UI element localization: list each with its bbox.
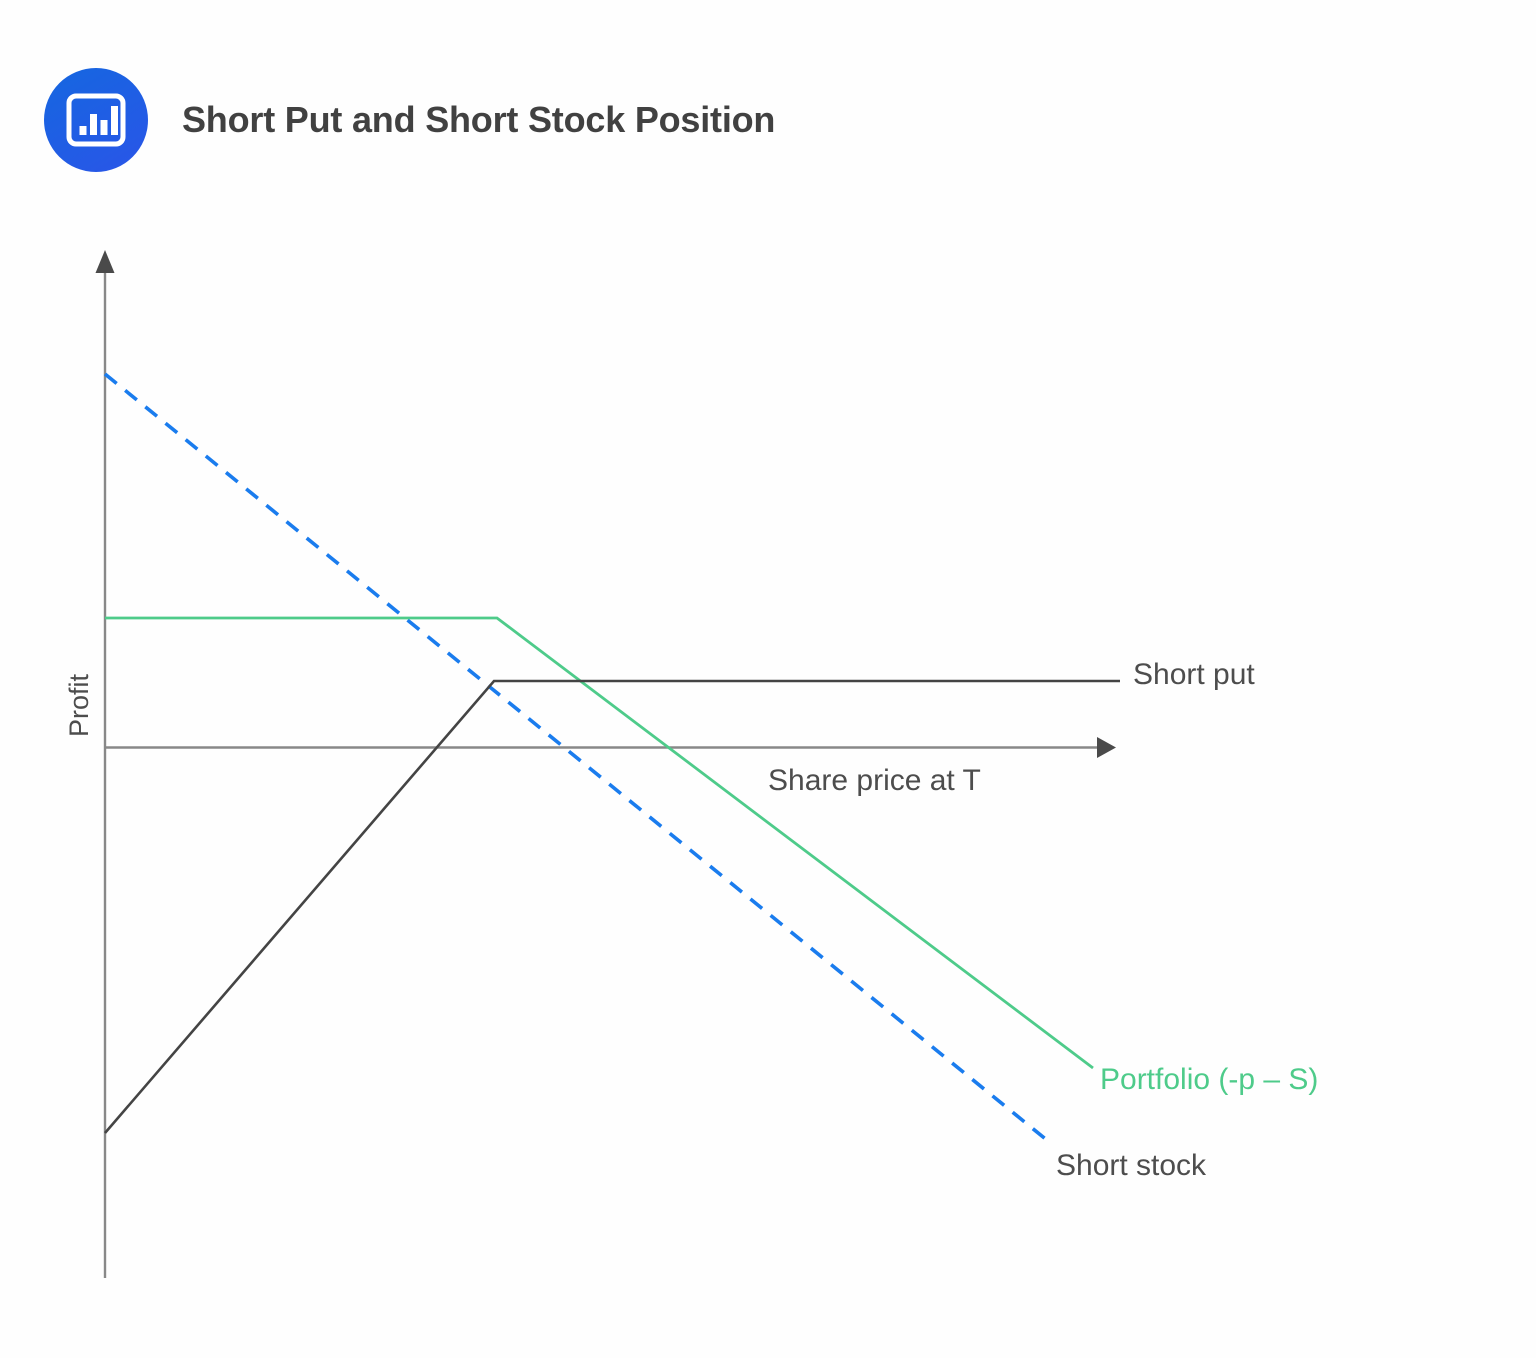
series-portfolio-line (105, 618, 1093, 1068)
chart-canvas (0, 0, 1536, 1358)
y-axis-label-text: Profit (67, 673, 94, 736)
chart-area: Short put Share price at T Portfolio (-p… (0, 0, 1536, 1358)
series-short-put-line (105, 681, 1120, 1133)
legend-label-short-put: Short put (1133, 660, 1255, 690)
x-axis (105, 737, 1116, 758)
legend-label-portfolio: Portfolio (-p – S) (1100, 1065, 1318, 1095)
chart-page: Short Put and Short Stock Position Short… (0, 0, 1536, 1358)
legend-label-short-stock: Short stock (1056, 1151, 1206, 1181)
y-axis-label: Profit (58, 660, 102, 750)
series-short-stock-line (105, 374, 1048, 1141)
x-axis-label: Share price at T (768, 766, 981, 796)
